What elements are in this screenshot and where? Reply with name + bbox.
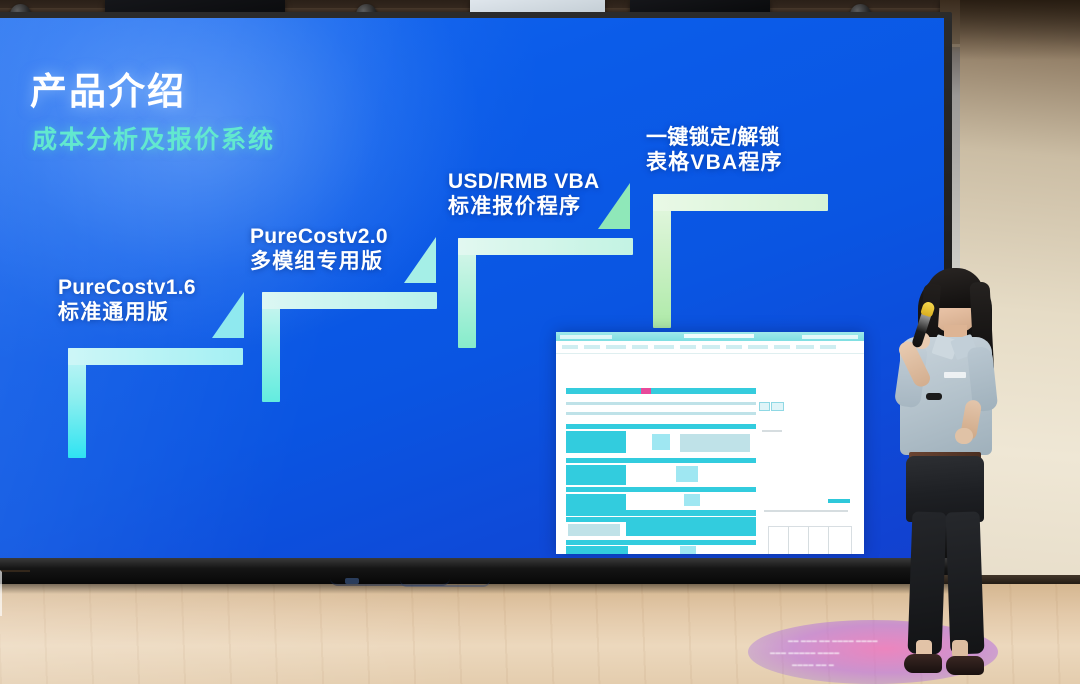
spreadsheet-section-bar [566, 487, 756, 492]
step-3-tread [458, 238, 633, 255]
presenter-leg-right [946, 511, 985, 654]
spreadsheet-section-bar [566, 540, 756, 545]
step-2-tread [262, 292, 437, 309]
spreadsheet-mini-chart [768, 526, 852, 554]
step-3-arrow-icon [598, 183, 630, 229]
spreadsheet-header-bar [566, 388, 756, 394]
spreadsheet-chart-gridline [808, 526, 809, 554]
staircase-step-1 [68, 348, 243, 458]
spreadsheet-highlight-chip [828, 499, 850, 503]
floor-cable-secondary [400, 580, 490, 587]
floor-stand [0, 570, 30, 616]
spreadsheet-window-title [684, 334, 754, 338]
projection-text: ▬▬▬▬ ▬▬ ▬ [792, 662, 834, 668]
slide-title: 产品介绍 [30, 61, 186, 115]
floor-socket [345, 578, 359, 584]
slide-subtitle: 成本分析及报价系统 [32, 120, 275, 156]
spreadsheet-header-highlight [641, 388, 651, 394]
spreadsheet-line [764, 510, 848, 512]
presenter-shoe-left [904, 654, 942, 673]
spreadsheet-chart-gridline [828, 526, 829, 554]
spreadsheet-data-block [676, 466, 698, 482]
step-1-tread [68, 348, 243, 365]
wall-right-shadow [960, 0, 1080, 60]
spreadsheet-line [568, 524, 620, 536]
spreadsheet-data-block [600, 431, 626, 453]
presenter-shirt-logo [944, 372, 966, 378]
step-4-riser [653, 194, 671, 328]
step-3-label-line2: 标准报价程序 [448, 195, 599, 220]
step-3-label: USD/RMB VBA 标准报价程序 [448, 170, 599, 220]
presenter-hand-right [955, 428, 973, 444]
presentation-photo-scene: 产品介绍 成本分析及报价系统 PureCostv1.6 标准通用版 PureCo… [0, 0, 1080, 684]
spreadsheet-grid [556, 354, 864, 554]
spreadsheet-section-bar [566, 424, 756, 429]
step-4-tread [653, 194, 828, 211]
spreadsheet-ribbon [556, 341, 864, 354]
spreadsheet-action-button[interactable] [759, 402, 770, 411]
step-4-label: 一键锁定/解锁 表格VBA程序 [646, 126, 783, 176]
spreadsheet-data-block [652, 434, 670, 450]
spreadsheet-titlebar [556, 332, 864, 341]
step-3-label-line1: USD/RMB VBA [448, 170, 599, 195]
spreadsheet-line [566, 402, 756, 405]
spreadsheet-section-bar [566, 510, 756, 516]
presenter-shoe-right [946, 656, 984, 675]
spreadsheet-data-block [566, 494, 626, 510]
spreadsheet-line [680, 434, 750, 452]
presenter-leg-left [908, 511, 947, 654]
led-screen: 产品介绍 成本分析及报价系统 PureCostv1.6 标准通用版 PureCo… [0, 18, 944, 558]
projection-text: ▬▬▬ ▬▬▬▬▬ ▬▬▬▬ [770, 650, 840, 656]
spreadsheet-data-block [626, 522, 756, 536]
staircase-step-2 [262, 292, 437, 402]
step-1-label-line1: PureCostv1.6 [58, 276, 196, 301]
presentation-clicker [926, 393, 942, 400]
embedded-spreadsheet-screenshot [556, 332, 864, 554]
spreadsheet-line [566, 412, 756, 415]
step-4-label-line2: 表格VBA程序 [646, 151, 783, 176]
step-2-label: PureCostv2.0 多模组专用版 [250, 225, 388, 275]
spreadsheet-action-button[interactable] [771, 402, 784, 411]
step-2-label-line2: 多模组专用版 [250, 250, 388, 275]
step-4-label-line1: 一键锁定/解锁 [646, 126, 783, 151]
step-1-arrow-icon [212, 292, 244, 338]
step-2-arrow-icon [404, 237, 436, 283]
step-2-label-line1: PureCostv2.0 [250, 225, 388, 250]
spreadsheet-data-block [566, 465, 626, 485]
spreadsheet-section-bar [566, 458, 756, 463]
spreadsheet-data-block [566, 546, 628, 554]
spreadsheet-data-block [684, 494, 700, 506]
staircase-step-4 [653, 194, 828, 328]
step-1-label: PureCostv1.6 标准通用版 [58, 276, 196, 326]
spreadsheet-quick-access [560, 335, 612, 339]
projection-text: ▬▬ ▬▬▬ ▬▬ ▬▬▬▬ ▬▬▬▬ [788, 638, 878, 644]
spreadsheet-line [762, 430, 782, 432]
spreadsheet-chart-gridline [788, 526, 789, 554]
spreadsheet-data-block [680, 546, 696, 554]
spreadsheet-window-controls [802, 335, 858, 339]
step-1-label-line2: 标准通用版 [58, 301, 196, 326]
